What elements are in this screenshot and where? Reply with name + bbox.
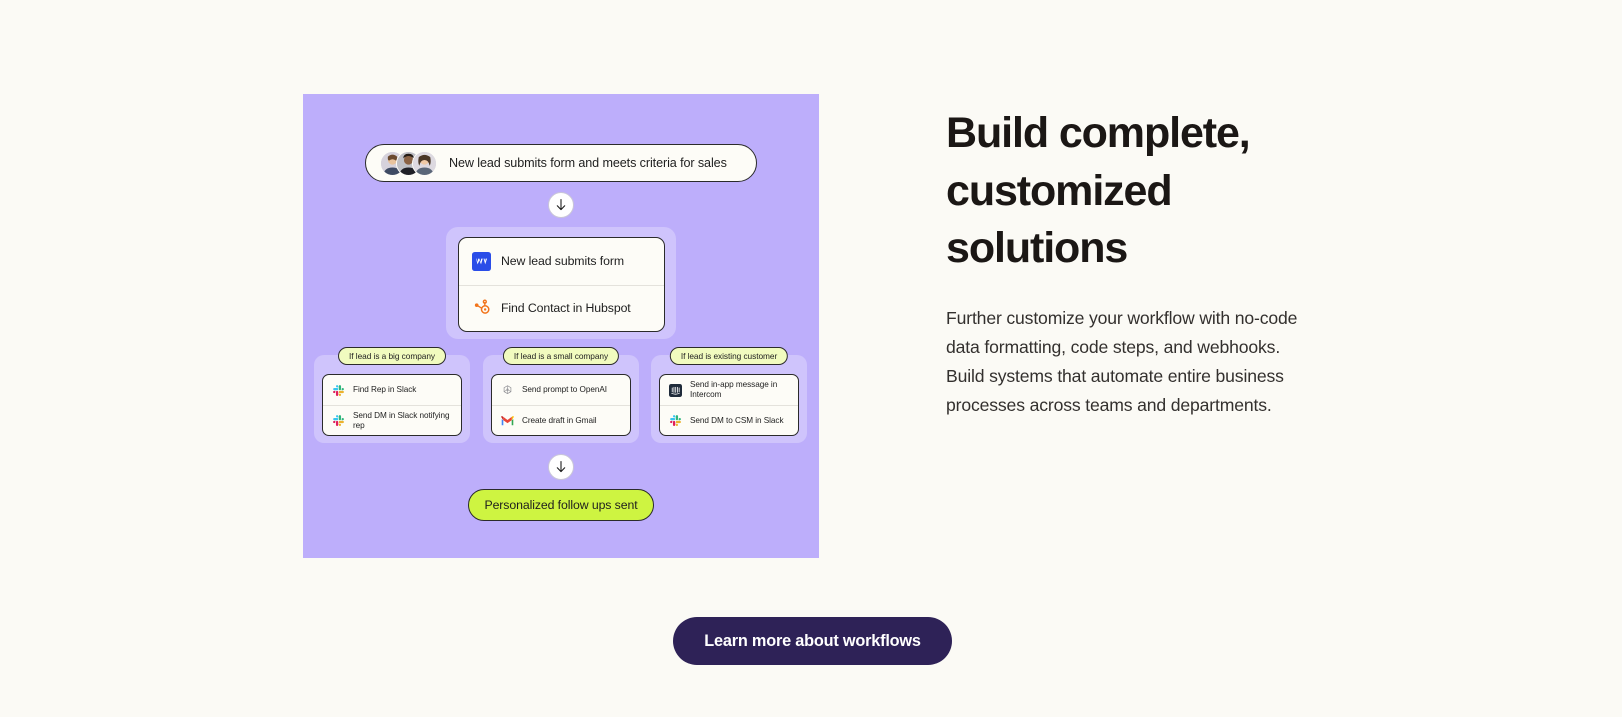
page-root: New lead submits form and meets criteria… [0, 0, 1622, 717]
step-label: New lead submits form [501, 254, 624, 268]
step-label: Find Contact in Hubspot [501, 301, 631, 315]
step-row-new-lead[interactable]: New lead submits form [459, 238, 664, 285]
page-title: Build complete, customized solutions [946, 105, 1306, 278]
branch-step-label: Send prompt to OpenAI [522, 385, 607, 395]
branch-step-row[interactable]: Send DM in Slack notifying rep [323, 405, 461, 435]
branch-card[interactable]: Send in-app message in Intercom Send DM … [659, 374, 799, 436]
hubspot-icon [472, 299, 491, 318]
branch-step-label: Send DM in Slack notifying rep [353, 411, 452, 431]
openai-icon [501, 384, 514, 397]
branch-existing-customer: If lead is existing customer Send in-app… [651, 355, 807, 443]
arrow-down-icon-bottom [548, 454, 574, 480]
branch-step-label: Find Rep in Slack [353, 385, 416, 395]
trigger-label: New lead submits form and meets criteria… [449, 156, 727, 170]
branch-step-row[interactable]: Find Rep in Slack [323, 375, 461, 405]
avatar-person-3 [412, 151, 437, 176]
branch-step-row[interactable]: Create draft in Gmail [492, 405, 630, 435]
slack-icon [332, 384, 345, 397]
branch-card[interactable]: Send prompt to OpenAI Create draft in Gm… [491, 374, 631, 436]
avatar-group [380, 151, 437, 176]
branch-small-company: If lead is a small company Send prompt t… [483, 355, 639, 443]
slack-icon [669, 414, 682, 427]
branch-big-company: If lead is a big company Find Rep in Sla… [314, 355, 470, 443]
workflow-canvas: New lead submits form and meets criteria… [303, 94, 819, 558]
condition-pill[interactable]: If lead is a small company [503, 347, 619, 365]
trigger-pill[interactable]: New lead submits form and meets criteria… [365, 144, 757, 182]
step-row-find-contact[interactable]: Find Contact in Hubspot [459, 285, 664, 332]
slack-icon [332, 414, 345, 427]
branch-card[interactable]: Find Rep in Slack Send DM in Slack notif… [322, 374, 462, 436]
condition-pill[interactable]: If lead is a big company [338, 347, 446, 365]
branch-step-label: Create draft in Gmail [522, 416, 597, 426]
outcome-pill[interactable]: Personalized follow ups sent [468, 489, 654, 521]
condition-pill[interactable]: If lead is existing customer [670, 347, 788, 365]
webflow-icon [472, 252, 491, 271]
arrow-down-icon-top [548, 192, 574, 218]
branch-step-row[interactable]: Send in-app message in Intercom [660, 375, 798, 405]
body-paragraph: Further customize your workflow with no-… [946, 304, 1306, 420]
branch-step-label: Send in-app message in Intercom [690, 380, 789, 400]
gmail-icon [501, 414, 514, 427]
intercom-icon [669, 384, 682, 397]
branch-step-label: Send DM to CSM in Slack [690, 416, 784, 426]
main-step-card[interactable]: New lead submits form Find Contact in Hu… [458, 237, 665, 332]
learn-more-button[interactable]: Learn more about workflows [673, 617, 952, 665]
copy-block: Build complete, customized solutions Fur… [946, 105, 1306, 420]
branch-step-row[interactable]: Send prompt to OpenAI [492, 375, 630, 405]
branch-step-row[interactable]: Send DM to CSM in Slack [660, 405, 798, 435]
